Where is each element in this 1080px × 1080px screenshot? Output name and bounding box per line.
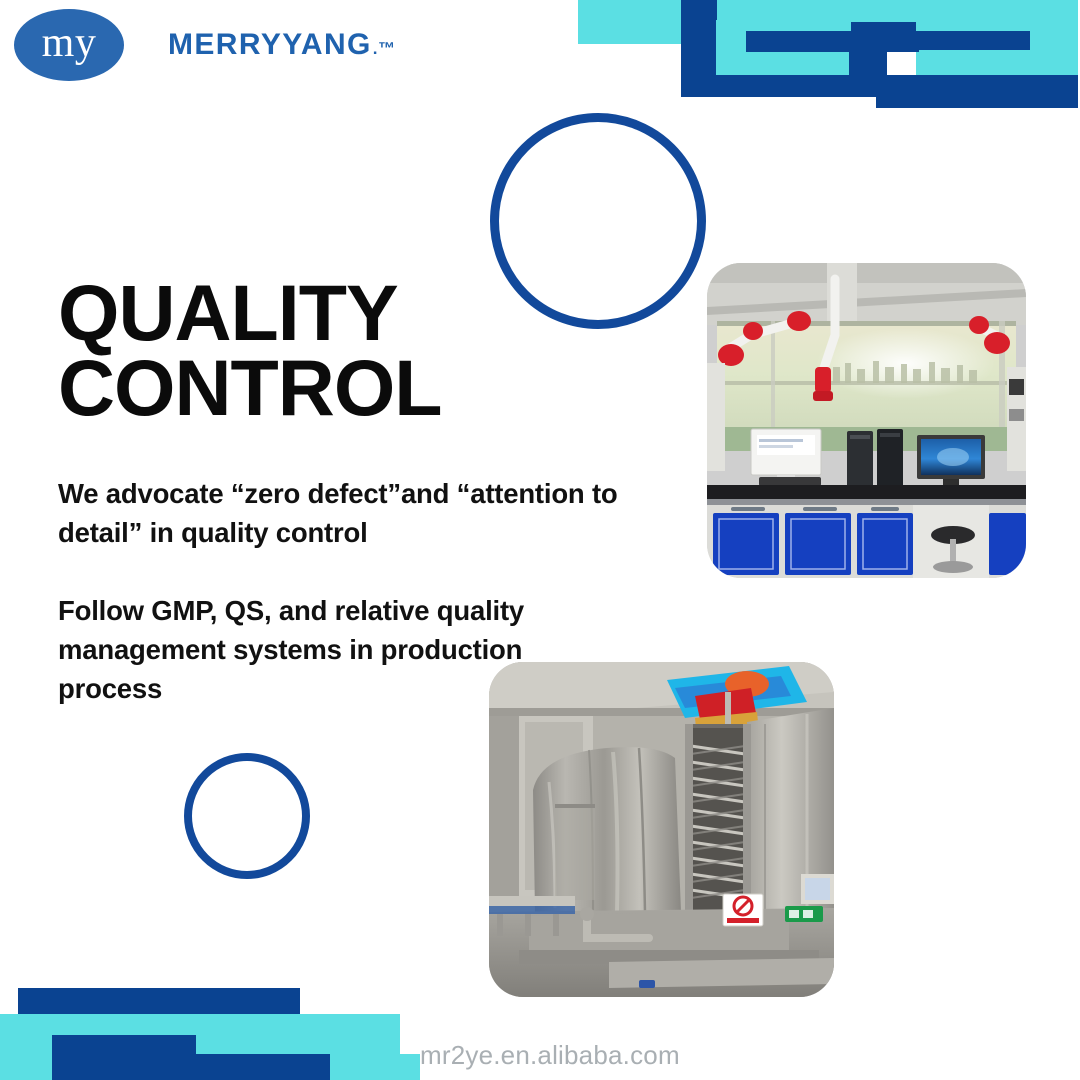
brand-logo: my MERRYYANG .™ [14, 6, 396, 84]
decor-block [919, 50, 1078, 78]
brand-name: MERRYYANG [168, 28, 372, 62]
machinery-illustration [489, 662, 834, 997]
laboratory-illustration [707, 263, 1026, 578]
logo-oval-icon: my [14, 9, 124, 81]
quality-control-poster: my MERRYYANG .™ QUALITY CONTROL We advoc… [0, 0, 1080, 1080]
photo-quality-control-laboratory [707, 263, 1026, 578]
decor-block [916, 31, 1030, 52]
page-title-line-2: CONTROL [58, 350, 578, 425]
body-paragraph-1: We advocate “zero defect”and “attention … [58, 474, 658, 552]
decorative-ring-small [184, 753, 310, 879]
watermark-url: mr2ye.en.alibaba.com [420, 1040, 680, 1071]
page-title-line-1: QUALITY [58, 275, 578, 350]
decor-block [330, 1054, 420, 1080]
logo-oval-text: my [42, 22, 97, 64]
photo-production-line-machinery [489, 662, 834, 997]
decor-block [746, 31, 918, 52]
trademark-symbol: .™ [373, 39, 396, 59]
decor-block [876, 75, 1078, 108]
decor-block [296, 1014, 400, 1054]
brand-wordmark: MERRYYANG .™ [168, 28, 396, 62]
decor-block [126, 1054, 330, 1080]
page-title: QUALITY CONTROL [58, 275, 578, 425]
